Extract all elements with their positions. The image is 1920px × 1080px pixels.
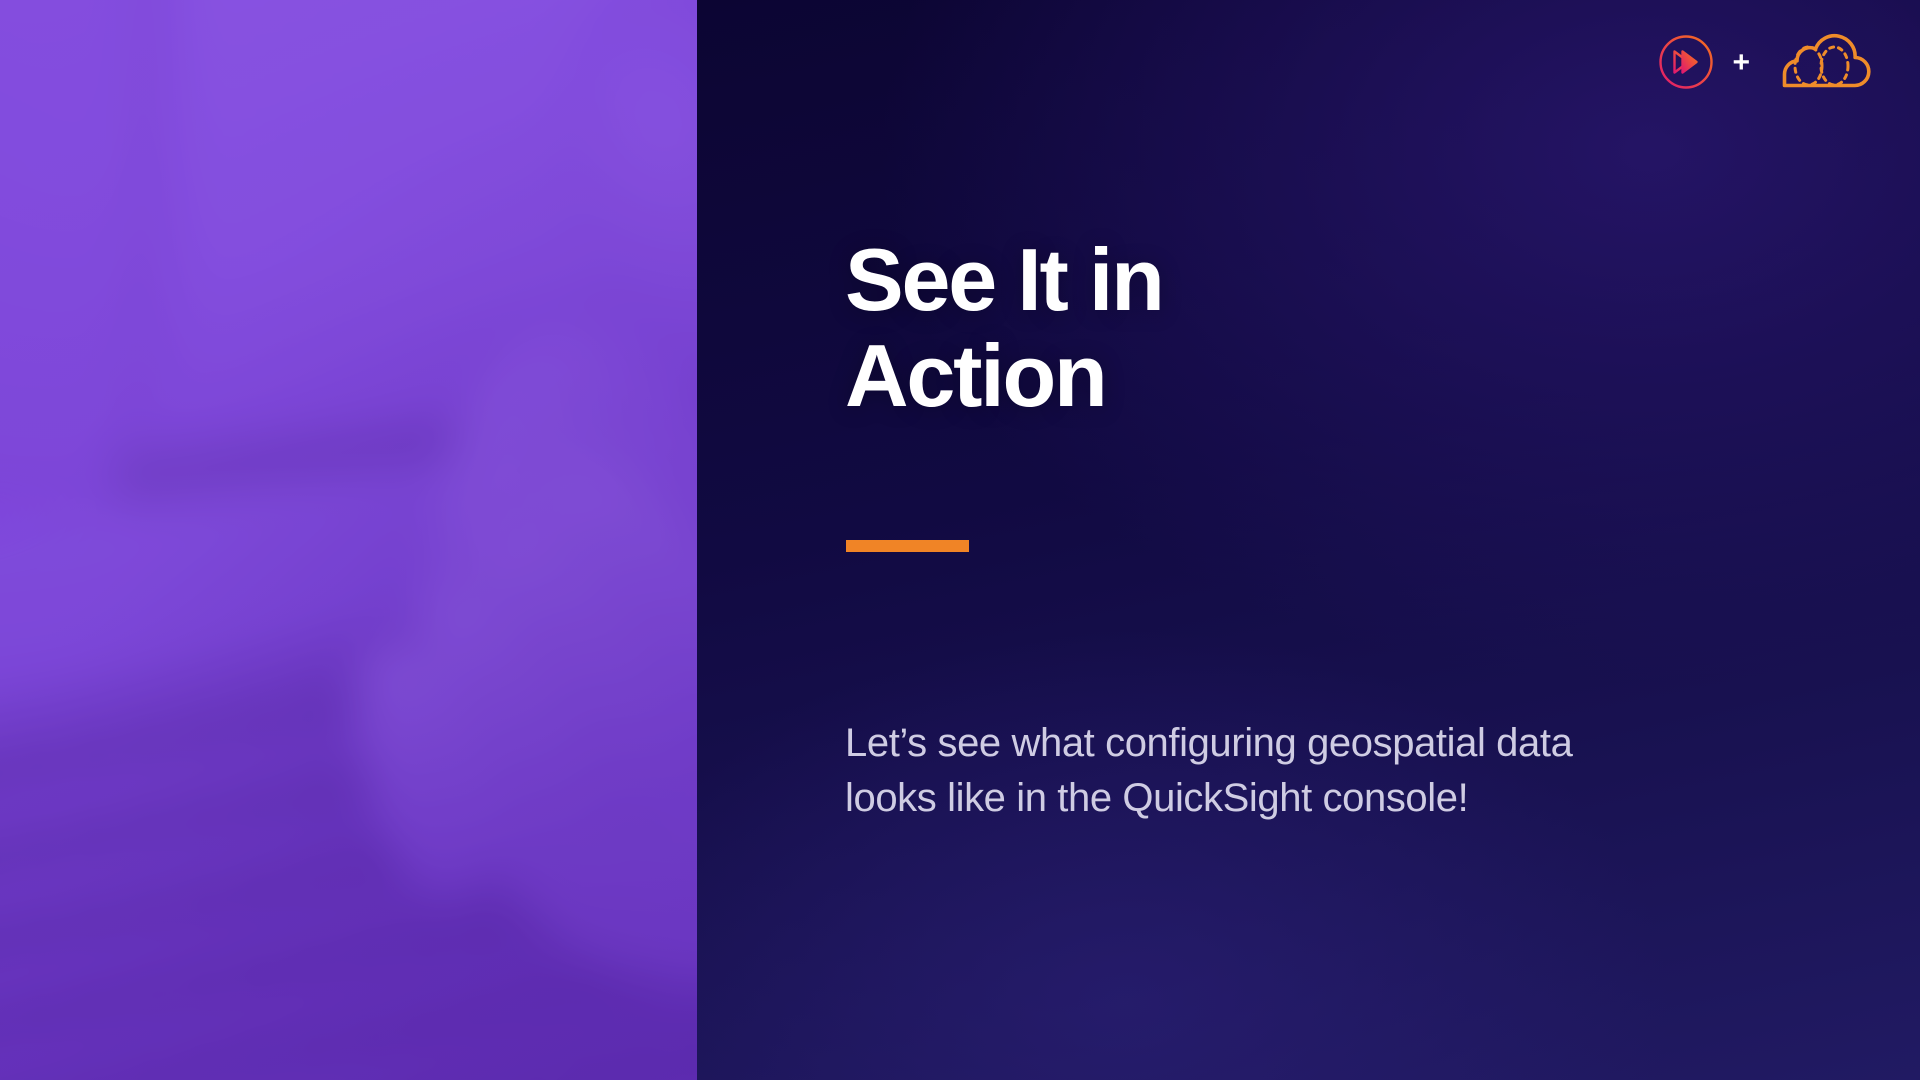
photo-purple-flat-overlay: [0, 0, 697, 1080]
page-subtitle-line-1: Let’s see what configuring geospatial da…: [845, 716, 1675, 771]
content-panel: + See It in Action Let’: [697, 0, 1920, 1080]
quicksight-cloud-logo: [1768, 33, 1872, 91]
play-triangle-circle-logo: [1658, 34, 1714, 90]
slide-root: + See It in Action Let’: [0, 0, 1920, 1080]
page-title: See It in Action: [845, 232, 1605, 424]
panel-background-glow: [697, 626, 1675, 1080]
plus-icon: +: [1732, 48, 1750, 78]
logo-cluster: +: [1658, 33, 1872, 91]
page-subtitle-line-2: looks like in the QuickSight console!: [845, 771, 1675, 826]
page-subtitle: Let’s see what configuring geospatial da…: [845, 716, 1675, 826]
hands-typing-on-laptop-photo: [0, 0, 697, 1080]
page-title-line-1: See It in: [845, 232, 1605, 328]
page-title-line-2: Action: [845, 328, 1605, 424]
accent-divider: [846, 540, 969, 552]
